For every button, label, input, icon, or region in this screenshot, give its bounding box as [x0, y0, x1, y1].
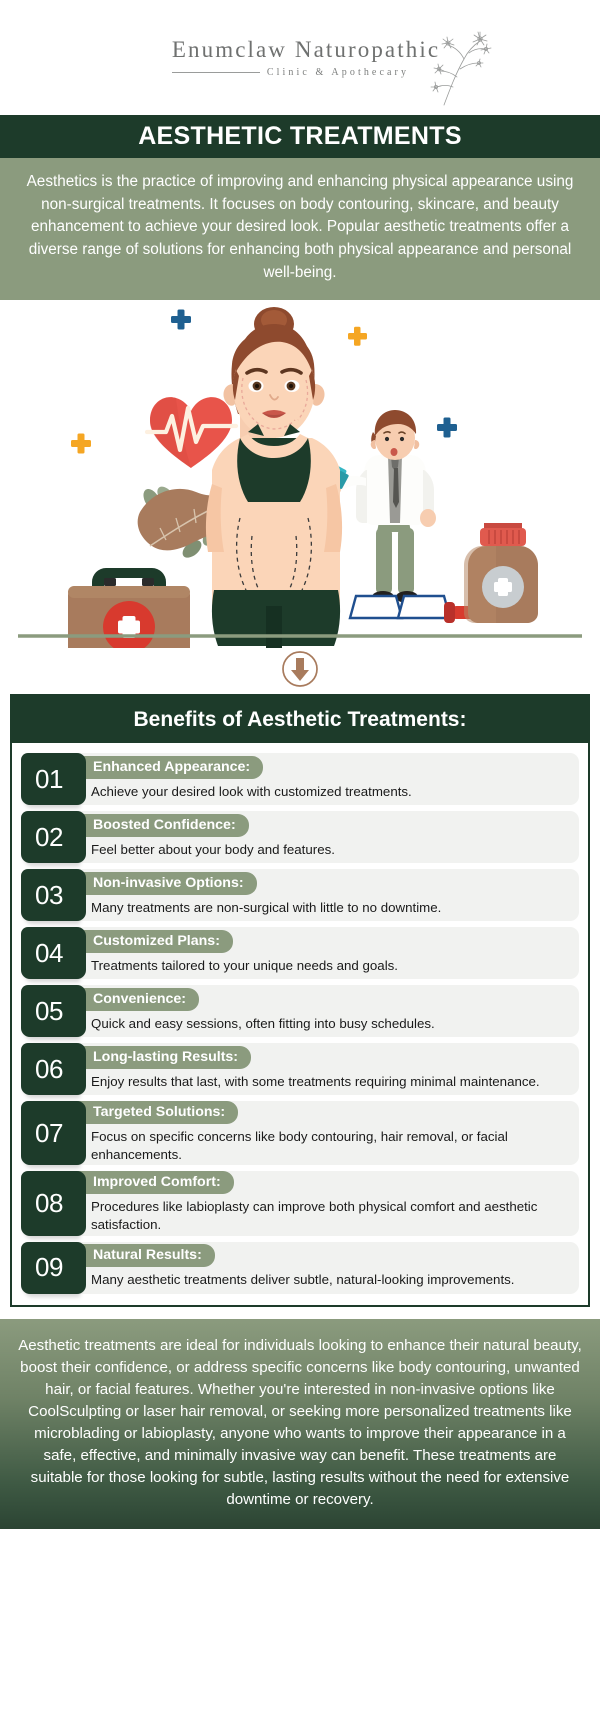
list-item: 01 Enhanced Appearance: Achieve your des… [21, 753, 579, 805]
logo-header: Enumclaw Naturopathic Clinic & Apothecar… [0, 0, 600, 115]
logo: Enumclaw Naturopathic Clinic & Apothecar… [172, 37, 440, 77]
flower-sprig-icon [424, 29, 498, 112]
benefit-title: Targeted Solutions: [77, 1101, 238, 1124]
illustration [0, 300, 600, 648]
benefit-content: Improved Comfort: Procedures like labiop… [77, 1171, 579, 1235]
benefit-title: Customized Plans: [77, 930, 233, 953]
benefit-description: Procedures like labioplasty can improve … [91, 1194, 579, 1235]
benefit-content: Boosted Confidence: Feel better about yo… [77, 811, 579, 863]
benefit-title: Long-lasting Results: [77, 1046, 251, 1069]
benefit-description: Focus on specific concerns like body con… [91, 1124, 579, 1165]
logo-subtitle-row: Clinic & Apothecary [172, 67, 440, 78]
benefit-number: 08 [21, 1171, 77, 1235]
benefit-title: Improved Comfort: [77, 1171, 234, 1194]
illustration-svg [0, 300, 600, 648]
benefits-heading: Benefits of Aesthetic Treatments: [134, 708, 467, 732]
benefit-content: Non-invasive Options: Many treatments ar… [77, 869, 579, 921]
benefit-number: 05 [21, 985, 77, 1037]
benefit-description: Achieve your desired look with customize… [91, 779, 579, 803]
benefits-header: Benefits of Aesthetic Treatments: [12, 696, 588, 743]
benefit-content: Targeted Solutions: Focus on specific co… [77, 1101, 579, 1165]
list-item: 05 Convenience: Quick and easy sessions,… [21, 985, 579, 1037]
footer-section: Aesthetic treatments are ideal for indiv… [0, 1319, 600, 1529]
list-item: 07 Targeted Solutions: Focus on specific… [21, 1101, 579, 1165]
benefit-content: Enhanced Appearance: Achieve your desire… [77, 753, 579, 805]
benefit-content: Customized Plans: Treatments tailored to… [77, 927, 579, 979]
benefit-description: Treatments tailored to your unique needs… [91, 953, 579, 977]
benefit-title: Enhanced Appearance: [77, 756, 263, 779]
benefit-number: 04 [21, 927, 77, 979]
logo-clinic-name: Enumclaw Naturopathic [172, 37, 440, 62]
logo-tagline: Clinic & Apothecary [267, 67, 409, 78]
down-arrow-circle-icon [281, 650, 319, 693]
benefit-content: Natural Results: Many aesthetic treatmen… [77, 1242, 579, 1294]
benefit-description: Many treatments are non-surgical with li… [91, 895, 579, 919]
benefit-description: Enjoy results that last, with some treat… [91, 1069, 579, 1093]
list-item: 08 Improved Comfort: Procedures like lab… [21, 1171, 579, 1235]
benefit-title: Boosted Confidence: [77, 814, 249, 837]
benefit-title: Natural Results: [77, 1244, 215, 1267]
benefit-number: 07 [21, 1101, 77, 1165]
list-item: 03 Non-invasive Options: Many treatments… [21, 869, 579, 921]
logo-text: Enumclaw Naturopathic Clinic & Apothecar… [172, 37, 440, 77]
benefit-content: Long-lasting Results: Enjoy results that… [77, 1043, 579, 1095]
list-item: 06 Long-lasting Results: Enjoy results t… [21, 1043, 579, 1095]
title-banner: AESTHETIC TREATMENTS [0, 115, 600, 158]
page-title: AESTHETIC TREATMENTS [138, 122, 462, 151]
list-item: 09 Natural Results: Many aesthetic treat… [21, 1242, 579, 1294]
benefit-description: Many aesthetic treatments deliver subtle… [91, 1267, 579, 1291]
benefit-description: Feel better about your body and features… [91, 837, 579, 861]
benefit-content: Convenience: Quick and easy sessions, of… [77, 985, 579, 1037]
intro-section: Aesthetics is the practice of improving … [0, 158, 600, 300]
intro-text: Aesthetics is the practice of improving … [18, 171, 582, 284]
benefit-number: 01 [21, 753, 77, 805]
logo-divider-rule [172, 72, 260, 73]
benefit-number: 09 [21, 1242, 77, 1294]
benefits-list: 01 Enhanced Appearance: Achieve your des… [12, 743, 588, 1305]
list-item: 04 Customized Plans: Treatments tailored… [21, 927, 579, 979]
benefit-number: 06 [21, 1043, 77, 1095]
benefit-number: 02 [21, 811, 77, 863]
benefit-description: Quick and easy sessions, often fitting i… [91, 1011, 579, 1035]
list-item: 02 Boosted Confidence: Feel better about… [21, 811, 579, 863]
benefits-panel: Benefits of Aesthetic Treatments: 01 Enh… [10, 694, 590, 1307]
footer-text: Aesthetic treatments are ideal for indiv… [16, 1335, 584, 1511]
arrow-divider [0, 648, 600, 694]
benefit-number: 03 [21, 869, 77, 921]
benefit-title: Convenience: [77, 988, 199, 1011]
benefit-title: Non-invasive Options: [77, 872, 257, 895]
infographic-page: Enumclaw Naturopathic Clinic & Apothecar… [0, 0, 600, 1722]
